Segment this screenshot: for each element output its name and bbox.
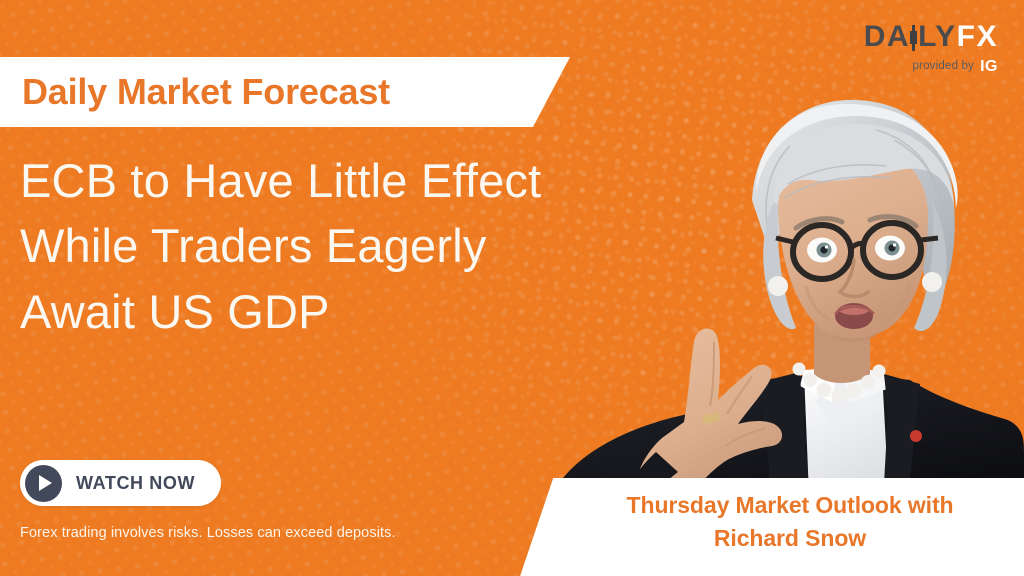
video-thumbnail: DALY FX provided by IG Daily Market Fore…	[0, 0, 1024, 576]
logo-fx-text: FX	[957, 22, 998, 52]
candlestick-icon	[912, 25, 915, 51]
headline-line-3: Await US GDP	[20, 279, 720, 344]
logo-tagline-text: provided by	[912, 61, 974, 73]
series-banner: Daily Market Forecast	[0, 57, 570, 127]
headline-line-2: While Traders Eagerly	[20, 213, 720, 278]
play-triangle	[39, 475, 52, 491]
headline: ECB to Have Little Effect While Traders …	[20, 148, 720, 344]
presenter-banner-line-1: Thursday Market Outlook with	[627, 489, 954, 522]
presenter-banner-line-2: Richard Snow	[714, 522, 866, 555]
logo-ig-text: IG	[980, 59, 998, 75]
presenter-banner: Thursday Market Outlook with Richard Sno…	[498, 478, 1024, 576]
logo-tagline: provided by IG	[864, 59, 998, 75]
risk-disclaimer: Forex trading involves risks. Losses can…	[20, 525, 396, 541]
headline-line-1: ECB to Have Little Effect	[20, 148, 720, 213]
watch-now-label: WATCH NOW	[76, 473, 195, 494]
series-banner-label: Daily Market Forecast	[22, 71, 390, 113]
watch-now-button[interactable]: WATCH NOW	[20, 460, 221, 506]
dailyfx-logo[interactable]: DALY FX provided by IG	[864, 22, 998, 75]
play-icon	[25, 465, 62, 502]
logo-daily-text: DALY	[864, 22, 957, 52]
logo-wordmark: DALY FX	[864, 22, 998, 52]
